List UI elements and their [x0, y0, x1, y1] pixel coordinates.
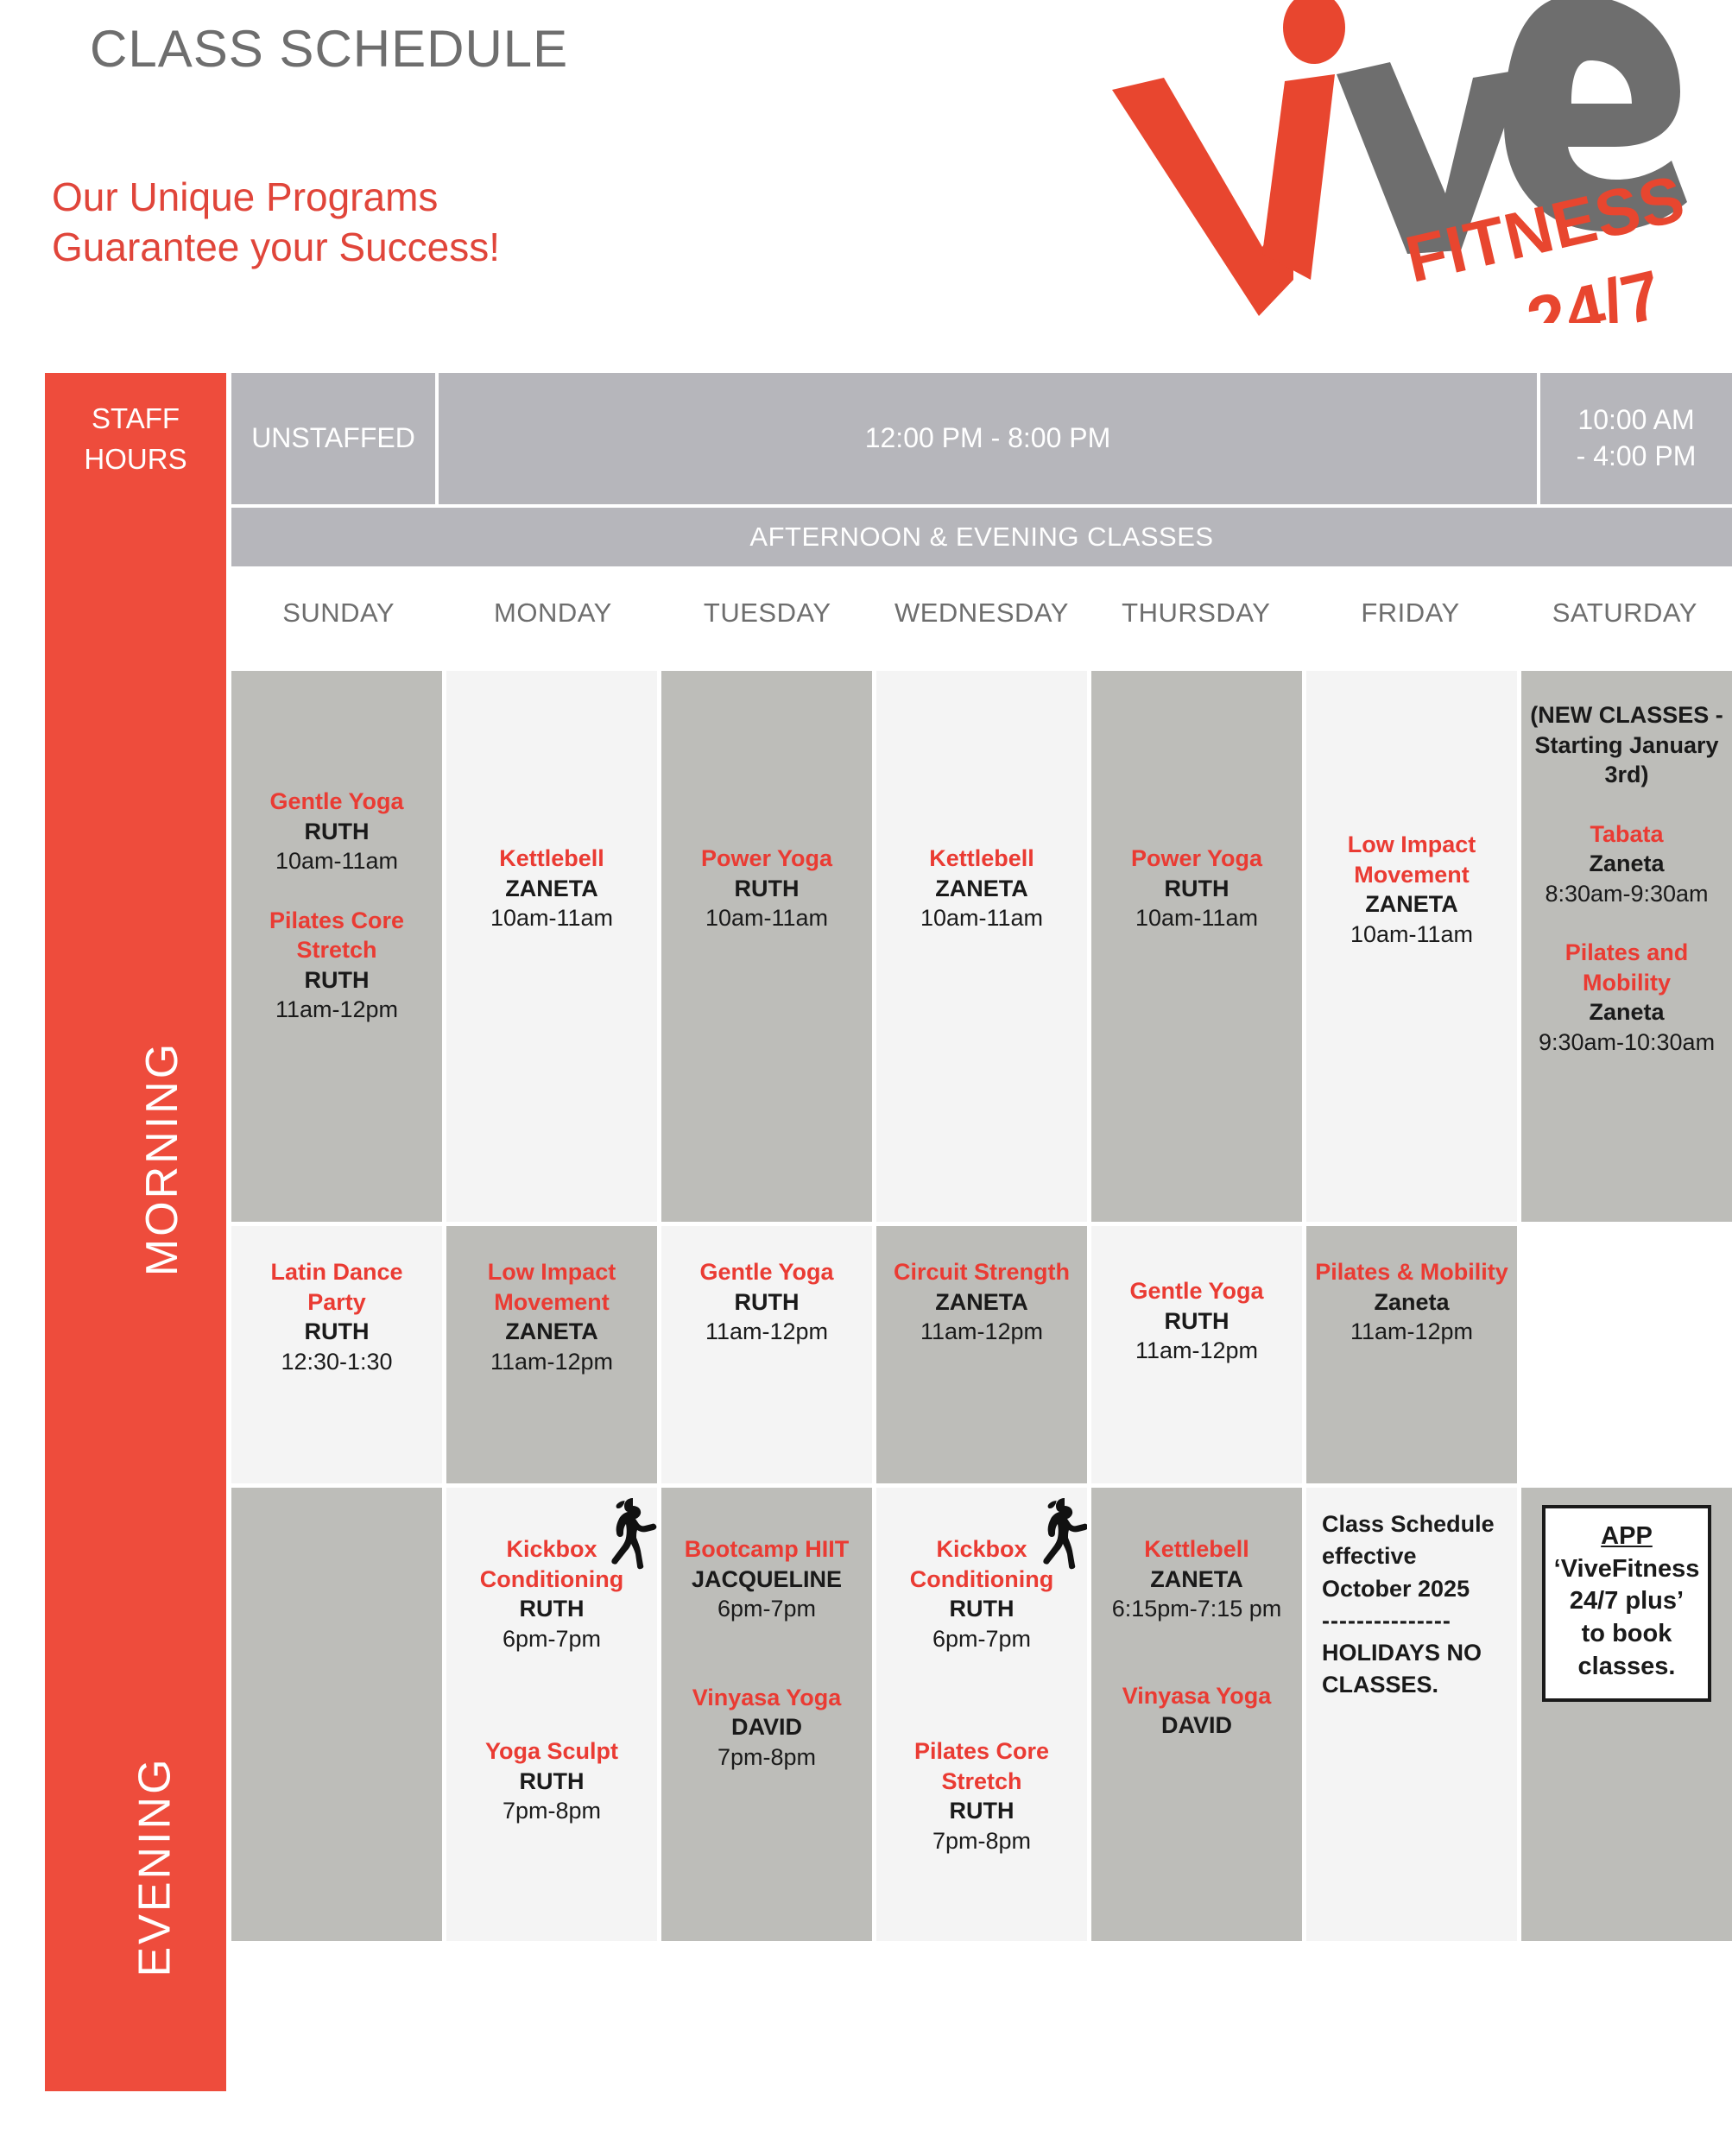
class-time: 11am-12pm	[883, 1317, 1080, 1347]
class-name: Bootcamp HIIT	[668, 1534, 865, 1565]
class-time: 10am-11am	[238, 846, 435, 876]
class-time: 7pm-8pm	[453, 1796, 650, 1826]
class-instructor: Zaneta	[1313, 1287, 1510, 1318]
class-name: Pilates and Mobility	[1528, 938, 1725, 997]
class-block: Power Yoga RUTH 10am-11am	[668, 844, 865, 933]
class-instructor: JACQUELINE	[668, 1565, 865, 1595]
cell-morning-thursday[interactable]: Power Yoga RUTH 10am-11am	[1091, 671, 1302, 1222]
class-block: Pilates Core Stretch RUTH 11am-12pm	[238, 906, 435, 1025]
class-block: Pilates Core Stretch RUTH 7pm-8pm	[883, 1736, 1080, 1856]
class-name: Pilates & Mobility	[1313, 1257, 1510, 1287]
class-name: Power Yoga	[1098, 844, 1295, 874]
class-name: Low Impact Movement	[1313, 830, 1510, 889]
class-name: Gentle Yoga	[1098, 1276, 1295, 1306]
vive-fitness-logo: FITNESS 24/7	[1062, 0, 1701, 323]
class-block: Kettlebell ZANETA 10am-11am	[883, 844, 1080, 933]
app-line-4: classes.	[1552, 1651, 1701, 1684]
class-block: Pilates & Mobility Zaneta 11am-12pm	[1313, 1257, 1510, 1347]
class-name: Yoga Sculpt	[453, 1736, 650, 1767]
class-time: 7pm-8pm	[668, 1742, 865, 1773]
tagline: Our Unique Programs Guarantee your Succe…	[52, 173, 500, 272]
staff-cell-saturday-hours: 10:00 AM - 4:00 PM	[1540, 373, 1732, 504]
class-time: 11am-12pm	[238, 995, 435, 1025]
cell-evening-thursday[interactable]: Kettlebell ZANETA 6:15pm-7:15 pm Vinyasa…	[1091, 1488, 1302, 1941]
class-block: Circuit Strength ZANETA 11am-12pm	[883, 1257, 1080, 1347]
class-name: Low Impact Movement	[453, 1257, 650, 1317]
evening-row: Kickbox Conditioning RUTH 6pm-7pm Yoga S…	[231, 1488, 1732, 1941]
class-instructor: RUTH	[1098, 874, 1295, 904]
class-time: 10am-11am	[1098, 903, 1295, 933]
app-heading: APP	[1552, 1521, 1701, 1553]
class-instructor: ZANETA	[1098, 1565, 1295, 1595]
class-time: 6:15pm-7:15 pm	[1098, 1594, 1295, 1624]
class-schedule-page: CLASS SCHEDULE Our Unique Programs Guara…	[0, 0, 1732, 2156]
class-block: Gentle Yoga RUTH 11am-12pm	[1098, 1276, 1295, 1366]
class-block: Tabata Zaneta 8:30am-9:30am	[1528, 819, 1725, 909]
class-time: 11am-12pm	[1313, 1317, 1510, 1347]
cell-evening-wednesday[interactable]: Kickbox Conditioning RUTH 6pm-7pm Pilate…	[876, 1488, 1087, 1941]
saturday-hours-line-1: 10:00 AM	[1577, 402, 1697, 439]
app-line-2: 24/7 plus’	[1552, 1585, 1701, 1618]
cell-morning-wednesday[interactable]: Kettlebell ZANETA 10am-11am	[876, 671, 1087, 1222]
class-name: Kickbox Conditioning	[883, 1534, 1080, 1594]
app-line-1: ‘ViveFitness	[1552, 1553, 1701, 1586]
note-line-2: effective	[1322, 1540, 1507, 1572]
schedule-grid: UNSTAFFED 12:00 PM - 8:00 PM 10:00 AM - …	[231, 373, 1732, 1941]
class-time: 12:30-1:30	[238, 1347, 435, 1377]
class-name: Kettlebell	[883, 844, 1080, 874]
cell-midday-thursday[interactable]: Gentle Yoga RUTH 11am-12pm	[1091, 1226, 1302, 1483]
cell-evening-monday[interactable]: Kickbox Conditioning RUTH 6pm-7pm Yoga S…	[446, 1488, 657, 1941]
class-name: Pilates Core Stretch	[883, 1736, 1080, 1796]
new-classes-banner: (NEW CLASSES -Starting January 3rd)	[1528, 700, 1725, 790]
class-instructor: ZANETA	[453, 1317, 650, 1347]
staff-cell-unstaffed: UNSTAFFED	[231, 373, 435, 504]
cell-evening-saturday: APP ‘ViveFitness 24/7 plus’ to book clas…	[1521, 1488, 1732, 1941]
day-header-monday: MONDAY	[446, 597, 660, 629]
cell-midday-wednesday[interactable]: Circuit Strength ZANETA 11am-12pm	[876, 1226, 1087, 1483]
class-name: Tabata	[1528, 819, 1725, 850]
day-header-wednesday: WEDNESDAY	[875, 597, 1089, 629]
class-time: 8:30am-9:30am	[1528, 879, 1725, 909]
class-name: Power Yoga	[668, 844, 865, 874]
staff-hours-label: STAFF HOURS	[45, 399, 226, 480]
class-instructor: RUTH	[238, 1317, 435, 1347]
note-line-5: CLASSES.	[1322, 1669, 1507, 1701]
evening-section-label: EVENING	[45, 1841, 226, 1893]
class-block: Gentle Yoga RUTH 11am-12pm	[668, 1257, 865, 1347]
midday-row: Latin Dance Party RUTH 12:30-1:30 Low Im…	[231, 1226, 1732, 1483]
class-instructor: RUTH	[453, 1594, 650, 1624]
staff-hours-line-2: HOURS	[45, 439, 226, 480]
class-time: 9:30am-10:30am	[1528, 1027, 1725, 1058]
day-header-sunday: SUNDAY	[231, 597, 446, 629]
class-time: 11am-12pm	[453, 1347, 650, 1377]
tagline-line-2: Guarantee your Success!	[52, 223, 500, 273]
class-name: Gentle Yoga	[238, 787, 435, 817]
cell-morning-saturday[interactable]: (NEW CLASSES -Starting January 3rd) Taba…	[1521, 671, 1732, 1222]
morning-section-label: MORNING	[45, 1133, 226, 1185]
class-block: Vinyasa Yoga DAVID	[1098, 1681, 1295, 1741]
class-block: Kickbox Conditioning RUTH 6pm-7pm	[883, 1534, 1080, 1653]
class-instructor: Zaneta	[1528, 849, 1725, 879]
class-block: Vinyasa Yoga DAVID 7pm-8pm	[668, 1683, 865, 1773]
saturday-hours-line-2: - 4:00 PM	[1577, 439, 1697, 475]
class-block: Latin Dance Party RUTH 12:30-1:30	[238, 1257, 435, 1376]
cell-morning-sunday[interactable]: Gentle Yoga RUTH 10am-11am Pilates Core …	[231, 671, 442, 1222]
class-block: Low Impact Movement ZANETA 10am-11am	[1313, 830, 1510, 949]
staff-hours-line-1: STAFF	[45, 399, 226, 439]
cell-midday-friday[interactable]: Pilates & Mobility Zaneta 11am-12pm	[1306, 1226, 1517, 1483]
cell-evening-tuesday[interactable]: Bootcamp HIIT JACQUELINE 6pm-7pm Vinyasa…	[661, 1488, 872, 1941]
class-instructor: DAVID	[1098, 1710, 1295, 1741]
class-block: Yoga Sculpt RUTH 7pm-8pm	[453, 1736, 650, 1826]
class-time: 10am-11am	[883, 903, 1080, 933]
app-line-3: to book	[1552, 1618, 1701, 1651]
class-instructor: RUTH	[453, 1767, 650, 1797]
class-time: 10am-11am	[1313, 920, 1510, 950]
app-booking-box[interactable]: APP ‘ViveFitness 24/7 plus’ to book clas…	[1542, 1505, 1711, 1702]
class-block: Power Yoga RUTH 10am-11am	[1098, 844, 1295, 933]
afternoon-evening-banner: AFTERNOON & EVENING CLASSES	[231, 508, 1732, 566]
class-block: Gentle Yoga RUTH 10am-11am	[238, 787, 435, 876]
class-instructor: DAVID	[668, 1712, 865, 1742]
cell-midday-saturday	[1521, 1226, 1732, 1483]
class-name: Pilates Core Stretch	[238, 906, 435, 965]
class-instructor: RUTH	[883, 1796, 1080, 1826]
class-time: 11am-12pm	[668, 1317, 865, 1347]
tagline-line-1: Our Unique Programs	[52, 173, 500, 223]
class-name: Vinyasa Yoga	[668, 1683, 865, 1713]
class-block: Bootcamp HIIT JACQUELINE 6pm-7pm	[668, 1534, 865, 1624]
morning-row: Gentle Yoga RUTH 10am-11am Pilates Core …	[231, 671, 1732, 1222]
class-name: Kettlebell	[453, 844, 650, 874]
class-instructor: ZANETA	[883, 1287, 1080, 1318]
schedule-effective-note: Class Schedule effective October 2025 --…	[1313, 1500, 1510, 1702]
class-instructor: RUTH	[883, 1594, 1080, 1624]
class-instructor: ZANETA	[883, 874, 1080, 904]
cell-midday-tuesday[interactable]: Gentle Yoga RUTH 11am-12pm	[661, 1226, 872, 1483]
day-header-saturday: SATURDAY	[1518, 597, 1732, 629]
staff-cell-weekday-hours: 12:00 PM - 8:00 PM	[439, 373, 1537, 504]
class-time: 6pm-7pm	[883, 1624, 1080, 1654]
note-line-4: HOLIDAYS NO	[1322, 1637, 1507, 1669]
day-header-thursday: THURSDAY	[1089, 597, 1303, 629]
cell-evening-sunday	[231, 1488, 442, 1941]
class-block: Kickbox Conditioning RUTH 6pm-7pm	[453, 1534, 650, 1653]
class-instructor: ZANETA	[453, 874, 650, 904]
note-divider: ---------------	[1322, 1605, 1507, 1637]
morning-text: MORNING	[136, 1041, 188, 1276]
cell-morning-tuesday[interactable]: Power Yoga RUTH 10am-11am	[661, 671, 872, 1222]
class-time: 10am-11am	[453, 903, 650, 933]
cell-morning-friday[interactable]: Low Impact Movement ZANETA 10am-11am	[1306, 671, 1517, 1222]
note-line-1: Class Schedule	[1322, 1508, 1507, 1540]
sidebar-red-bar: STAFF HOURS MORNING EVENING	[45, 373, 226, 2091]
class-block: Low Impact Movement ZANETA 11am-12pm	[453, 1257, 650, 1376]
day-header-friday: FRIDAY	[1303, 597, 1517, 629]
class-instructor: RUTH	[668, 1287, 865, 1318]
class-instructor: ZANETA	[1313, 889, 1510, 920]
class-instructor: RUTH	[238, 817, 435, 847]
class-time: 10am-11am	[668, 903, 865, 933]
cell-morning-monday[interactable]: Kettlebell ZANETA 10am-11am	[446, 671, 657, 1222]
class-time: 6pm-7pm	[668, 1594, 865, 1624]
staff-hours-row: UNSTAFFED 12:00 PM - 8:00 PM 10:00 AM - …	[231, 373, 1732, 504]
class-time: 11am-12pm	[1098, 1336, 1295, 1366]
class-name: Vinyasa Yoga	[1098, 1681, 1295, 1711]
day-header-row: SUNDAY MONDAY TUESDAY WEDNESDAY THURSDAY…	[231, 570, 1732, 656]
class-time: 7pm-8pm	[883, 1826, 1080, 1856]
class-instructor: Zaneta	[1528, 997, 1725, 1027]
class-block: Kettlebell ZANETA 6:15pm-7:15 pm	[1098, 1534, 1295, 1624]
day-header-tuesday: TUESDAY	[661, 597, 875, 629]
cell-midday-sunday[interactable]: Latin Dance Party RUTH 12:30-1:30	[231, 1226, 442, 1483]
class-name: Latin Dance Party	[238, 1257, 435, 1317]
class-name: Kickbox Conditioning	[453, 1534, 650, 1594]
class-instructor: RUTH	[1098, 1306, 1295, 1337]
class-time: 6pm-7pm	[453, 1624, 650, 1654]
cell-evening-friday: Class Schedule effective October 2025 --…	[1306, 1488, 1517, 1941]
note-line-3: October 2025	[1322, 1573, 1507, 1605]
class-name: Gentle Yoga	[668, 1257, 865, 1287]
evening-text: EVENING	[130, 1756, 181, 1976]
page-title: CLASS SCHEDULE	[90, 19, 568, 79]
class-name: Circuit Strength	[883, 1257, 1080, 1287]
cell-midday-monday[interactable]: Low Impact Movement ZANETA 11am-12pm	[446, 1226, 657, 1483]
class-block: Pilates and Mobility Zaneta 9:30am-10:30…	[1528, 938, 1725, 1057]
class-instructor: RUTH	[668, 874, 865, 904]
class-block: Kettlebell ZANETA 10am-11am	[453, 844, 650, 933]
class-instructor: RUTH	[238, 965, 435, 996]
class-name: Kettlebell	[1098, 1534, 1295, 1565]
